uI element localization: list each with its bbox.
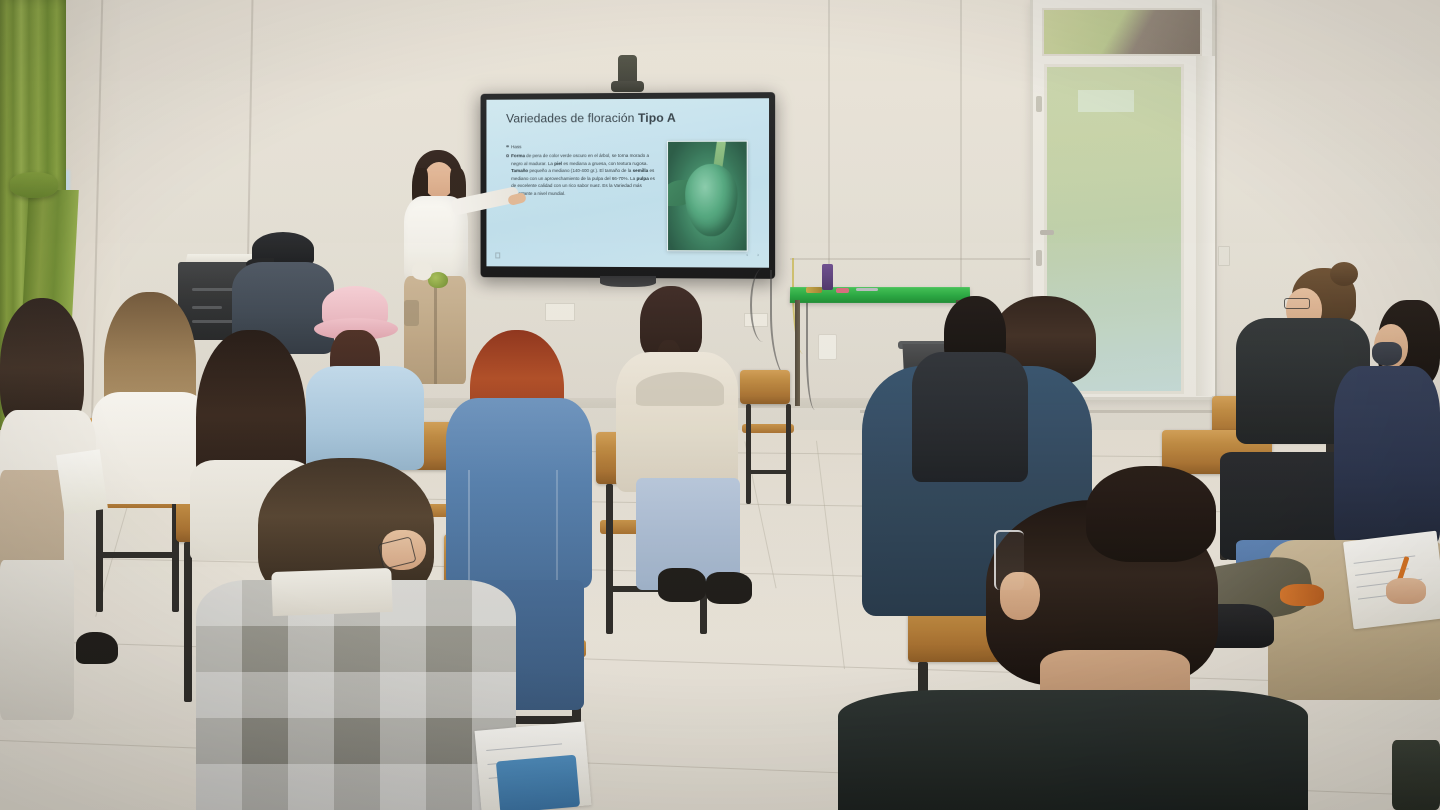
power-cable xyxy=(806,300,824,410)
attendee-hair xyxy=(1086,466,1216,562)
table-item-pink xyxy=(836,288,849,293)
chair-rail xyxy=(96,552,176,558)
attendee-shoe xyxy=(706,572,752,604)
face-mask xyxy=(1372,342,1402,366)
chair-leg xyxy=(786,404,791,504)
av-cart-slot xyxy=(192,306,222,309)
attendee-jacket xyxy=(838,690,1308,810)
wall-outlet-panel[interactable] xyxy=(545,303,575,321)
curtain-tieback xyxy=(10,172,58,198)
door-handle[interactable] xyxy=(1040,230,1054,235)
notebook-line xyxy=(486,743,562,751)
table-item-phone-case xyxy=(822,264,833,290)
wall-panel-line xyxy=(828,0,830,300)
wall-panel-line xyxy=(1215,0,1217,420)
door-hinge xyxy=(1036,250,1042,266)
plaid-flannel-shirt xyxy=(196,580,516,810)
slide-bullet-text: Hass xyxy=(511,143,521,150)
presenter-cargo-pocket xyxy=(404,300,419,326)
attendee-jacket xyxy=(912,352,1028,482)
glasses xyxy=(1284,298,1310,309)
slide-bullet-item: Forma de pera de color verde oscuro en e… xyxy=(506,152,657,197)
glasses xyxy=(994,530,1024,590)
table-leg xyxy=(795,300,800,406)
slide-page-badge xyxy=(495,252,500,258)
hair-bun xyxy=(1330,262,1358,286)
slide-bullet-item: Hass xyxy=(506,143,657,151)
avocado-photo xyxy=(667,141,748,252)
chair-leg xyxy=(184,542,192,702)
attendee-backpack xyxy=(1392,740,1440,810)
slide-next-icon[interactable]: › xyxy=(757,253,759,259)
attendee-shoe xyxy=(658,568,706,602)
wall-panel-line xyxy=(790,258,1040,260)
slide-prev-icon[interactable]: ‹ xyxy=(746,252,748,258)
tv-mount-foot xyxy=(600,276,656,287)
attendee-hand xyxy=(1386,578,1426,604)
slide-surface[interactable]: Variedades de floración Tipo A Hass Form… xyxy=(486,98,769,267)
door-jamb xyxy=(1196,56,1215,396)
denim-seam xyxy=(556,470,558,580)
slide-bullet-list: Hass Forma de pera de color verde oscuro… xyxy=(506,143,657,197)
door-glass-highlight xyxy=(1078,90,1134,112)
light-switch-panel[interactable] xyxy=(1218,246,1230,266)
denim-seam xyxy=(468,470,470,580)
presentation-screen[interactable]: Variedades de floración Tipo A Hass Form… xyxy=(481,92,776,279)
shirt-collar xyxy=(271,568,392,616)
attendee-orange-cuff xyxy=(1280,584,1324,606)
table-item-sample xyxy=(806,287,822,293)
chair-back xyxy=(740,370,790,404)
bullet-dot-icon xyxy=(506,145,509,148)
wall-panel-line xyxy=(960,0,962,310)
presenter-trouser-seam xyxy=(434,276,437,384)
attendee-shoe xyxy=(76,632,118,664)
attendee-hoodie xyxy=(1334,366,1440,546)
avocado-fruit xyxy=(685,164,737,236)
chair-leg xyxy=(606,484,613,634)
door-hinge xyxy=(1036,96,1042,112)
slide-navigation[interactable]: ‹ › xyxy=(746,252,759,258)
classroom-scene: Variedades de floración Tipo A Hass Form… xyxy=(0,0,1440,810)
hoodie-hood xyxy=(636,372,724,406)
chair-leg xyxy=(746,404,751,504)
attendee-top xyxy=(306,366,424,470)
bullet-dot-icon xyxy=(506,154,509,157)
slide-bullet-text: Forma de pera de color verde oscuro en e… xyxy=(511,152,657,197)
attendee-legs xyxy=(0,560,74,720)
table-item-pen xyxy=(856,288,878,291)
av-cart-slot xyxy=(192,320,236,323)
slide-content: Variedades de floración Tipo A Hass Form… xyxy=(486,98,769,267)
slide-title: Variedades de floración Tipo A xyxy=(506,110,755,125)
door-transom-window xyxy=(1042,8,1202,56)
chair-rail xyxy=(746,470,791,474)
notebook xyxy=(56,449,108,515)
camera-module-icon xyxy=(618,55,637,85)
notebook-cover xyxy=(496,755,580,810)
